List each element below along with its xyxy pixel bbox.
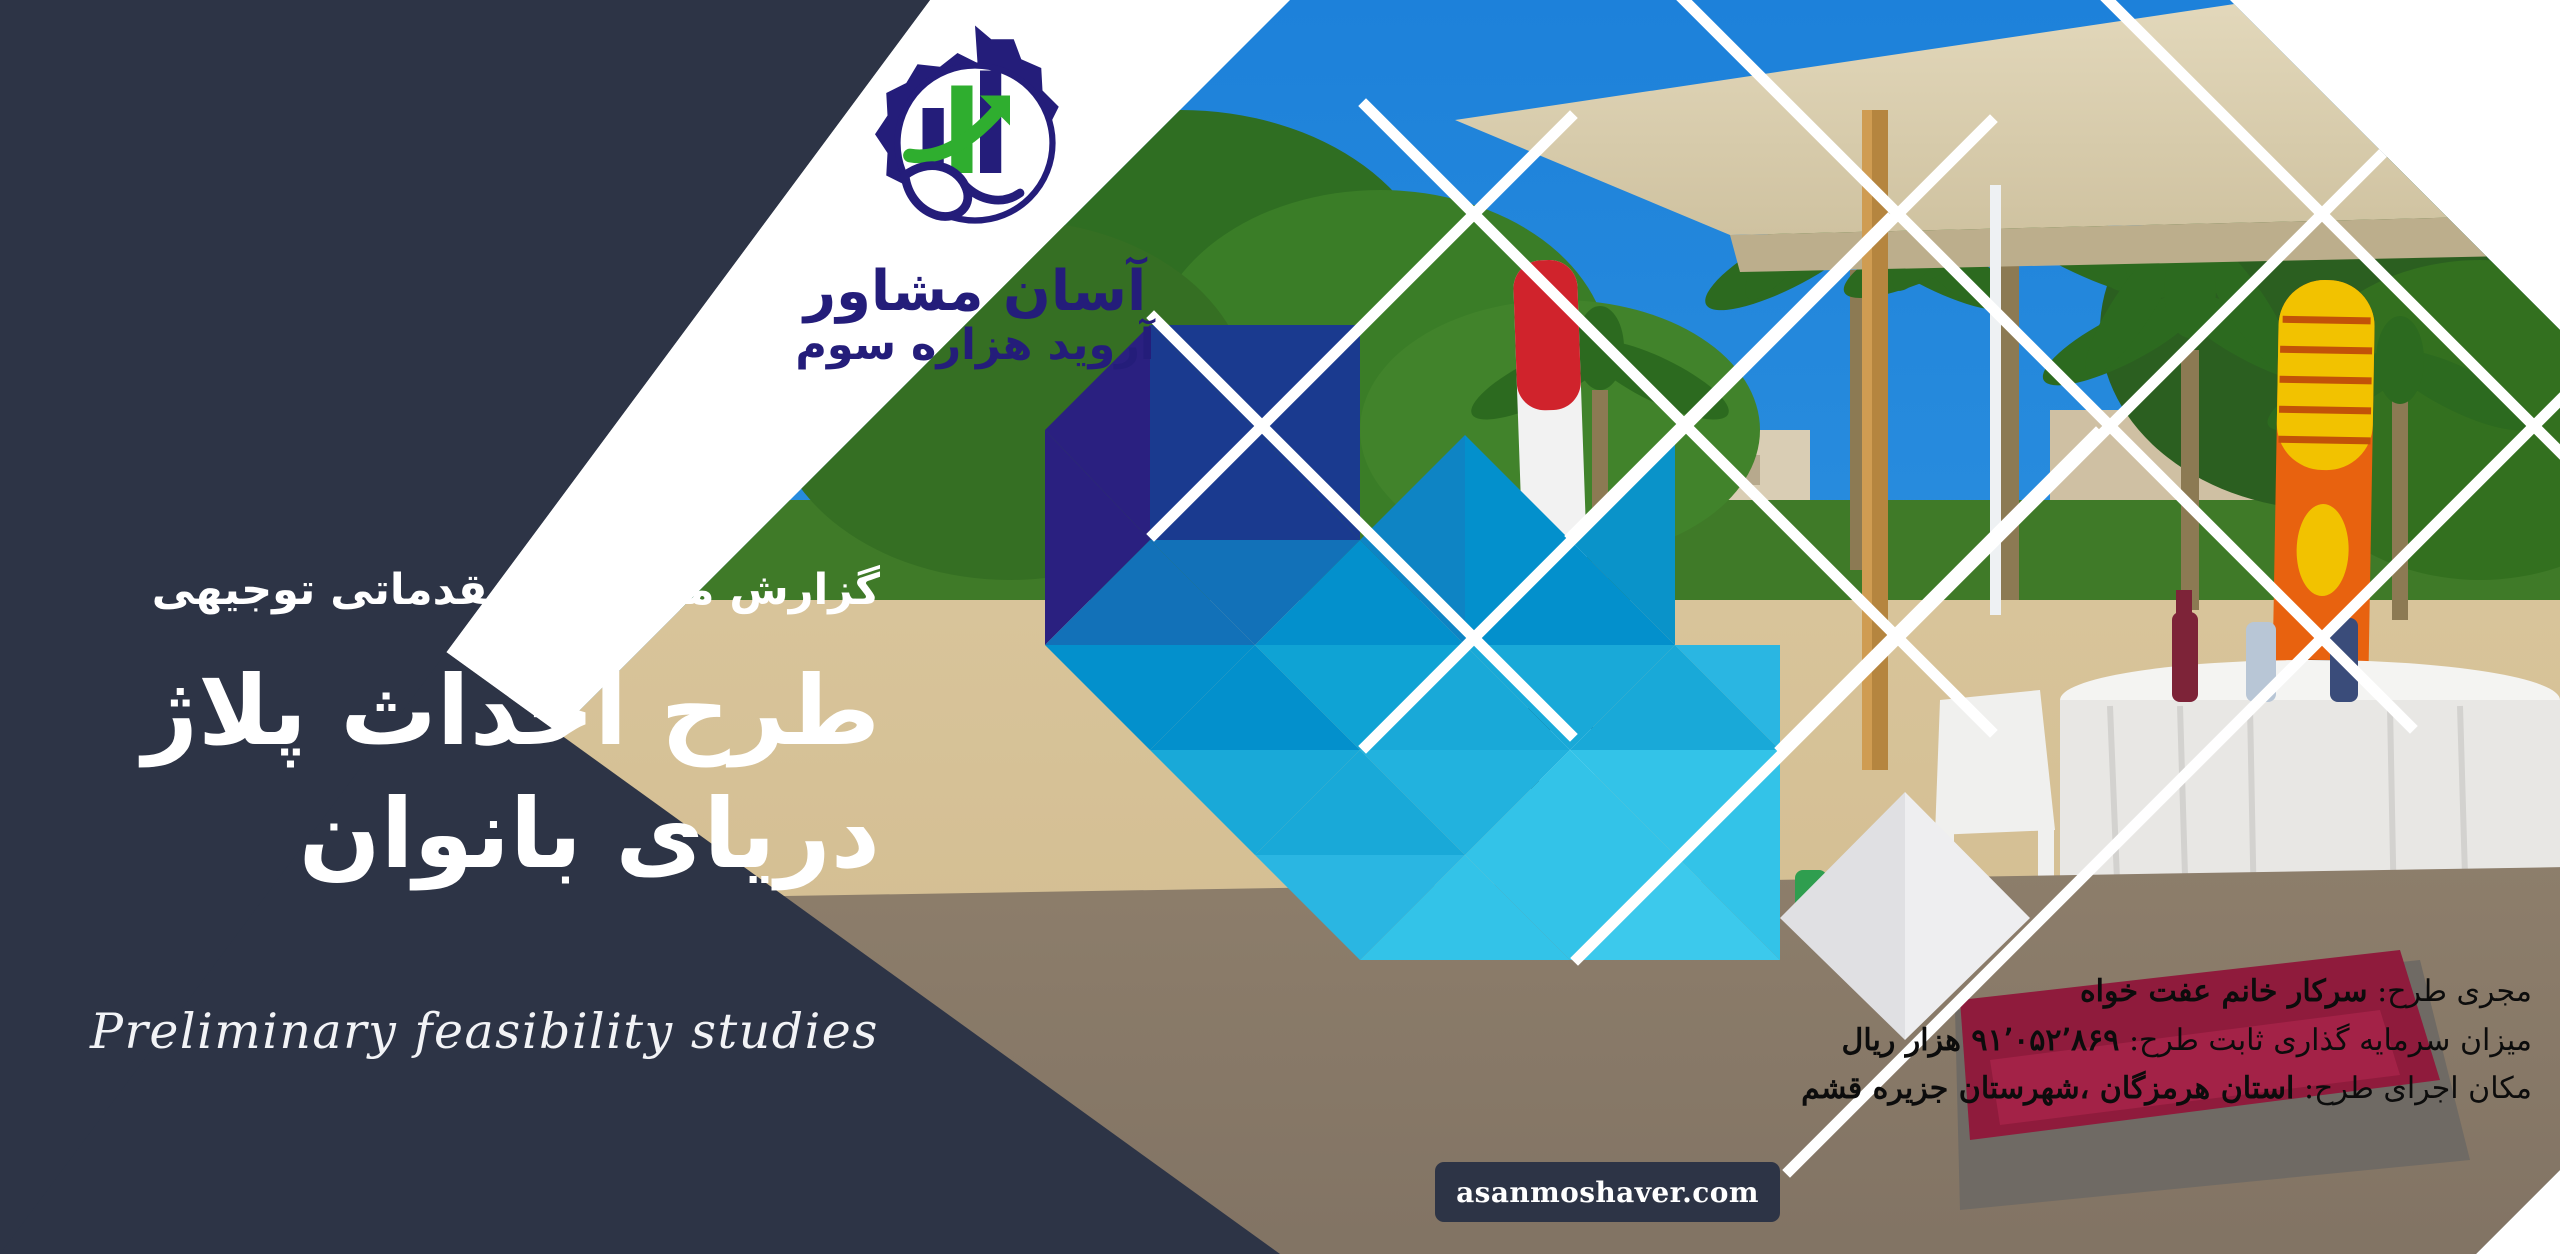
logo-name-line-1: آسان مشاور [775,262,1175,321]
info-value-location: استان هرمزگان ،شهرستان جزیره قشم [1801,1071,2294,1106]
info-row-executor: مجری طرح: سرکار خانم عفت خواه [1652,968,2532,1017]
info-value-investment: ۹۱٬۰۵۲٬۸۶۹ هزار ریال [1842,1023,2120,1058]
info-label-executor: مجری طرح: [2377,974,2532,1009]
brand-logo: آسان مشاور آروید هزاره سوم [775,18,1175,408]
info-row-investment: میزان سرمایه گذاری ثابت طرح: ۹۱٬۰۵۲٬۸۶۹ … [1652,1017,2532,1066]
info-value-executor: سرکار خانم عفت خواه [2080,974,2368,1009]
website-badge-label: asanmoshaver.com [1456,1176,1759,1209]
info-label-location: مکان اجرای طرح: [2304,1071,2532,1106]
cover-page: آسان مشاور آروید هزاره سوم گزارش مطالعات… [0,0,2560,1254]
logo-name-line-2: آروید هزاره سوم [775,321,1175,369]
info-label-investment: میزان سرمایه گذاری ثابت طرح: [2129,1023,2532,1058]
website-badge[interactable]: asanmoshaver.com [1435,1162,1780,1222]
gear-bar-chart-growth-arrow-logo-icon [850,18,1100,268]
project-info-block: مجری طرح: سرکار خانم عفت خواه میزان سرما… [1652,968,2532,1114]
info-row-location: مکان اجرای طرح: استان هرمزگان ،شهرستان ج… [1652,1065,2532,1114]
